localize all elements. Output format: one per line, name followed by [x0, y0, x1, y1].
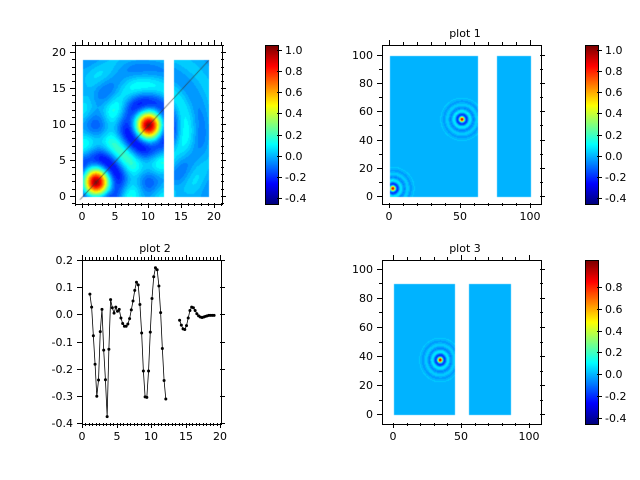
- xtick-major: [151, 423, 152, 428]
- data-point: [159, 311, 162, 314]
- xtick-major: [82, 423, 83, 428]
- colorbar-tick-label: 0.2: [605, 130, 640, 141]
- xtick-minor: [203, 423, 204, 426]
- colorbar-tick-label: 0.4: [605, 326, 640, 337]
- ytick-major-right: [220, 423, 225, 424]
- xtick-minor: [172, 423, 173, 426]
- xtick-label: 100: [510, 211, 550, 222]
- ytick-major-right: [540, 168, 545, 169]
- panel-top-right: plot 1 050100020406080100 -0.4-0.20.00.2…: [320, 0, 640, 240]
- xtick-minor-top: [102, 42, 103, 45]
- ytick-major-right: [540, 414, 545, 415]
- panel-top-left: 0510152005101520 -0.4-0.20.00.20.40.60.8…: [0, 0, 320, 240]
- xtick-minor: [144, 423, 145, 426]
- colorbar-tick: [597, 50, 602, 51]
- xtick-minor: [141, 203, 142, 206]
- ytick-minor: [72, 131, 75, 132]
- xtick-major-top: [460, 40, 461, 45]
- xtick-minor-top: [88, 42, 89, 45]
- xtick-minor: [168, 423, 169, 426]
- ytick-major-right: [540, 83, 545, 84]
- xtick-minor: [182, 423, 183, 426]
- xtick-minor-top: [488, 257, 489, 260]
- xtick-major-top: [151, 255, 152, 260]
- ytick-major: [70, 52, 75, 53]
- ytick-major-right: [220, 314, 225, 315]
- ytick-minor-right: [540, 371, 543, 372]
- colorbar-tick-label: -0.2: [285, 172, 325, 183]
- ytick-major-right: [220, 260, 225, 261]
- xtick-minor: [194, 203, 195, 206]
- ytick-label: 60: [339, 322, 373, 333]
- xtick-major-top: [529, 255, 530, 260]
- ytick-major: [70, 88, 75, 89]
- ytick-minor: [379, 283, 382, 284]
- xtick-minor-top: [120, 257, 121, 260]
- xtick-minor-top: [141, 257, 142, 260]
- xtick-major-top: [148, 40, 149, 45]
- ytick-minor-right: [221, 146, 224, 147]
- xtick-minor-top: [189, 257, 190, 260]
- data-point: [106, 415, 109, 418]
- xtick-minor-top: [108, 42, 109, 45]
- xtick-major: [148, 203, 149, 208]
- ytick-minor-right: [540, 182, 543, 183]
- ytick-label: 0.2: [39, 255, 73, 266]
- ytick-major-right: [221, 160, 226, 161]
- data-point: [128, 317, 131, 320]
- ytick-major-right: [540, 327, 545, 328]
- xtick-minor: [99, 423, 100, 426]
- xtick-minor-top: [203, 257, 204, 260]
- ytick-major-right: [220, 396, 225, 397]
- axes-top-left[interactable]: [75, 45, 223, 205]
- data-point: [109, 298, 112, 301]
- xtick-minor: [188, 203, 189, 206]
- data-point: [133, 289, 136, 292]
- ytick-minor: [379, 371, 382, 372]
- xtick-minor-top: [85, 257, 86, 260]
- xtick-minor-top: [516, 42, 517, 45]
- data-point: [149, 331, 152, 334]
- xtick-minor-top: [474, 42, 475, 45]
- xtick-minor-top: [110, 257, 111, 260]
- colorbar-tick-label: 0.4: [285, 108, 325, 119]
- ytick-major: [77, 423, 82, 424]
- colorbar-tick-label: 0.2: [605, 347, 640, 358]
- ytick-minor: [72, 81, 75, 82]
- xtick-label: 0: [373, 431, 413, 442]
- colorbar-tick: [597, 113, 602, 114]
- xtick-minor-top: [128, 42, 129, 45]
- data-point: [99, 330, 102, 333]
- xtick-major-top: [393, 255, 394, 260]
- ytick-label: 10: [32, 119, 66, 130]
- ytick-major: [377, 327, 382, 328]
- xtick-minor-top: [445, 42, 446, 45]
- colorbar-tick: [597, 331, 602, 332]
- xtick-minor-top: [121, 42, 122, 45]
- xtick-minor: [123, 423, 124, 426]
- xtick-minor: [113, 423, 114, 426]
- xtick-minor: [89, 423, 90, 426]
- line-series-1: [90, 268, 166, 417]
- data-point: [188, 309, 191, 312]
- xtick-minor-top: [99, 257, 100, 260]
- data-point: [100, 308, 103, 311]
- ytick-minor-right: [221, 45, 224, 46]
- xtick-minor: [515, 423, 516, 426]
- xtick-minor: [192, 423, 193, 426]
- ytick-major-right: [221, 124, 226, 125]
- line-series-2: [180, 307, 215, 329]
- ytick-major: [377, 168, 382, 169]
- ytick-minor: [379, 154, 382, 155]
- xtick-minor-top: [407, 257, 408, 260]
- xtick-minor: [217, 423, 218, 426]
- xtick-label: 50: [440, 211, 480, 222]
- xtick-minor-top: [165, 257, 166, 260]
- xtick-minor-top: [141, 42, 142, 45]
- data-point: [119, 317, 122, 320]
- ytick-minor-right: [540, 400, 543, 401]
- data-point: [107, 348, 110, 351]
- xtick-minor: [420, 423, 421, 426]
- ytick-major-right: [220, 369, 225, 370]
- ytick-minor-right: [221, 203, 224, 204]
- colorbar-tick: [597, 287, 602, 288]
- xtick-minor-top: [158, 257, 159, 260]
- ytick-minor-right: [221, 110, 224, 111]
- xtick-minor-top: [194, 42, 195, 45]
- ytick-minor-right: [221, 174, 224, 175]
- ytick-major-right: [540, 196, 545, 197]
- data-point: [130, 308, 133, 311]
- colorbar-tick: [277, 135, 282, 136]
- data-point: [163, 379, 166, 382]
- xtick-major-top: [181, 40, 182, 45]
- xtick-minor-top: [137, 257, 138, 260]
- xtick-minor-top: [213, 257, 214, 260]
- xtick-minor-top: [196, 257, 197, 260]
- ytick-minor: [72, 110, 75, 111]
- xtick-major: [529, 423, 530, 428]
- xtick-minor-top: [106, 257, 107, 260]
- data-point: [161, 347, 164, 350]
- data-point: [151, 297, 154, 300]
- xtick-major: [186, 423, 187, 428]
- xtick-minor-top: [417, 42, 418, 45]
- ytick-label: 0: [32, 191, 66, 202]
- ytick-minor: [72, 174, 75, 175]
- ytick-major: [377, 414, 382, 415]
- colorbar-tick: [277, 113, 282, 114]
- xtick-major: [214, 203, 215, 208]
- xtick-major: [461, 423, 462, 428]
- xtick-minor-top: [434, 257, 435, 260]
- xtick-major: [82, 203, 83, 208]
- ytick-label: 40: [339, 135, 373, 146]
- colorbar-tick-label: 0.6: [605, 87, 640, 98]
- ytick-minor-right: [540, 283, 543, 284]
- colorbar-tick-label: -0.4: [605, 413, 640, 424]
- xtick-minor: [130, 423, 131, 426]
- xtick-minor: [403, 203, 404, 206]
- ytick-minor-right: [540, 154, 543, 155]
- ytick-major: [377, 55, 382, 56]
- ytick-major: [70, 124, 75, 125]
- xtick-minor-top: [161, 257, 162, 260]
- ytick-major-right: [540, 298, 545, 299]
- xtick-minor-top: [96, 257, 97, 260]
- colorbar-tick: [597, 71, 602, 72]
- ytick-minor: [379, 97, 382, 98]
- xtick-major: [117, 423, 118, 428]
- ytick-minor-right: [221, 189, 224, 190]
- xtick-minor: [121, 203, 122, 206]
- ytick-minor-right: [540, 125, 543, 126]
- ytick-major: [77, 369, 82, 370]
- colorbar-tick: [277, 156, 282, 157]
- xtick-major: [530, 203, 531, 208]
- xtick-minor-top: [175, 257, 176, 260]
- xtick-minor: [488, 423, 489, 426]
- colorbar-tick: [277, 92, 282, 93]
- xtick-minor: [474, 203, 475, 206]
- ytick-label: 100: [339, 264, 373, 275]
- data-point: [118, 308, 121, 311]
- xtick-label: 0: [369, 211, 409, 222]
- xtick-minor: [210, 423, 211, 426]
- ytick-minor: [72, 102, 75, 103]
- ytick-major: [77, 396, 82, 397]
- data-point: [94, 363, 97, 366]
- xtick-minor: [158, 423, 159, 426]
- xtick-minor: [168, 203, 169, 206]
- xtick-minor-top: [488, 42, 489, 45]
- xtick-major: [181, 203, 182, 208]
- xtick-minor: [407, 423, 408, 426]
- ytick-minor-right: [221, 81, 224, 82]
- colorbar-tick-label: 0.8: [605, 282, 640, 293]
- data-point: [142, 370, 145, 373]
- ytick-major-right: [540, 356, 545, 357]
- xtick-minor-top: [154, 257, 155, 260]
- xtick-minor-top: [447, 257, 448, 260]
- colorbar-tick-label: -0.4: [605, 193, 640, 204]
- colorbar-tick: [597, 92, 602, 93]
- xtick-minor-top: [403, 42, 404, 45]
- xtick-minor-top: [182, 257, 183, 260]
- colorbar-tick: [277, 71, 282, 72]
- heatmap-bottom-right: [383, 261, 541, 424]
- ytick-minor: [72, 45, 75, 46]
- data-point: [145, 396, 148, 399]
- ytick-major: [77, 287, 82, 288]
- ytick-minor: [72, 181, 75, 182]
- ytick-minor-right: [221, 102, 224, 103]
- axes-bottom-left[interactable]: [82, 260, 222, 425]
- xtick-minor-top: [420, 257, 421, 260]
- xtick-major-top: [186, 255, 187, 260]
- xtick-minor: [155, 203, 156, 206]
- xtick-minor: [141, 423, 142, 426]
- xtick-minor-top: [175, 42, 176, 45]
- xtick-minor: [447, 423, 448, 426]
- xtick-major-top: [461, 255, 462, 260]
- ytick-minor: [72, 167, 75, 168]
- ytick-minor: [72, 146, 75, 147]
- ytick-label: 60: [339, 106, 373, 117]
- data-point: [121, 322, 124, 325]
- data-point: [152, 275, 155, 278]
- ytick-minor-right: [221, 153, 224, 154]
- xtick-minor: [92, 423, 93, 426]
- data-point: [88, 293, 91, 296]
- xtick-minor-top: [127, 257, 128, 260]
- data-point: [180, 324, 183, 327]
- heatmap-top-right: [383, 46, 541, 204]
- xtick-major: [460, 203, 461, 208]
- colorbar-tick: [597, 309, 602, 310]
- colorbar-tick: [597, 198, 602, 199]
- xtick-minor: [502, 203, 503, 206]
- ytick-minor: [379, 312, 382, 313]
- colorbar-gradient-top-left: [266, 46, 278, 204]
- xtick-minor: [85, 423, 86, 426]
- colorbar-tick-label: -0.4: [285, 193, 325, 204]
- xtick-minor: [434, 423, 435, 426]
- data-point: [102, 349, 105, 352]
- heatmap-top-left: [76, 46, 222, 204]
- xtick-minor: [96, 423, 97, 426]
- xtick-minor: [502, 423, 503, 426]
- ytick-label: -0.2: [39, 364, 73, 375]
- ytick-minor-right: [221, 167, 224, 168]
- xtick-minor-top: [168, 42, 169, 45]
- panel-bottom-left: plot 2 05101520-0.4-0.3-0.2-0.10.00.10.2: [0, 240, 320, 480]
- panel-bottom-right: plot 3 050100020406080100 -0.4-0.20.00.2…: [320, 240, 640, 480]
- xtick-major: [115, 203, 116, 208]
- ytick-minor: [72, 138, 75, 139]
- colorbar-tick-label: -0.2: [605, 172, 640, 183]
- ytick-major: [377, 269, 382, 270]
- ytick-label: 20: [32, 47, 66, 58]
- xtick-minor: [103, 423, 104, 426]
- xtick-minor-top: [123, 257, 124, 260]
- xtick-minor: [417, 203, 418, 206]
- line-plot-bottom-left: [83, 261, 221, 424]
- data-point: [178, 319, 181, 322]
- xtick-major: [389, 203, 390, 208]
- ytick-label: 80: [339, 293, 373, 304]
- xtick-minor: [201, 203, 202, 206]
- xtick-label: 50: [441, 431, 481, 442]
- colorbar-top-left: [265, 45, 279, 205]
- data-point: [192, 306, 195, 309]
- data-point: [137, 283, 140, 286]
- ytick-minor-right: [540, 342, 543, 343]
- ytick-major: [70, 196, 75, 197]
- ytick-minor: [379, 400, 382, 401]
- colorbar-tick-label: 0.2: [285, 130, 325, 141]
- xtick-minor: [154, 423, 155, 426]
- xtick-label: 20: [194, 211, 234, 222]
- colorbar-tick-label: 0.8: [605, 66, 640, 77]
- ytick-major-right: [221, 52, 226, 53]
- ytick-minor-right: [221, 131, 224, 132]
- ytick-minor: [72, 203, 75, 204]
- xtick-minor: [179, 423, 180, 426]
- data-point: [187, 317, 190, 320]
- ytick-label: 20: [339, 163, 373, 174]
- xtick-major: [393, 423, 394, 428]
- xtick-minor-top: [144, 257, 145, 260]
- data-point: [157, 284, 160, 287]
- ytick-major: [70, 160, 75, 161]
- ytick-major-right: [540, 269, 545, 270]
- ytick-minor: [72, 153, 75, 154]
- ytick-minor-right: [221, 181, 224, 182]
- ytick-label: 0.1: [39, 282, 73, 293]
- data-point: [92, 334, 95, 337]
- ytick-label: 80: [339, 78, 373, 89]
- data-point: [164, 398, 167, 401]
- xtick-minor: [199, 423, 200, 426]
- ytick-minor: [72, 74, 75, 75]
- xtick-minor-top: [103, 257, 104, 260]
- xtick-minor: [431, 203, 432, 206]
- xtick-minor: [206, 423, 207, 426]
- xtick-minor-top: [208, 42, 209, 45]
- ytick-major: [77, 260, 82, 261]
- ytick-minor: [72, 117, 75, 118]
- xtick-minor-top: [134, 257, 135, 260]
- xtick-minor-top: [92, 257, 93, 260]
- ytick-minor-right: [221, 59, 224, 60]
- ytick-minor: [379, 69, 382, 70]
- ytick-minor-right: [221, 67, 224, 68]
- colorbar-tick-label: 0.6: [605, 304, 640, 315]
- ytick-major-right: [221, 196, 226, 197]
- ytick-major-right: [220, 287, 225, 288]
- colorbar-tick-label: 0.0: [605, 151, 640, 162]
- xtick-minor: [161, 423, 162, 426]
- ytick-label: 0: [339, 191, 373, 202]
- data-point: [90, 306, 93, 309]
- xtick-minor: [175, 203, 176, 206]
- axes-bottom-right[interactable]: [382, 260, 542, 425]
- ytick-major: [377, 196, 382, 197]
- xtick-minor: [213, 423, 214, 426]
- ytick-label: 0.0: [39, 309, 73, 320]
- xtick-minor: [175, 423, 176, 426]
- xtick-minor-top: [475, 257, 476, 260]
- ytick-major: [377, 140, 382, 141]
- xtick-minor: [196, 423, 197, 426]
- ytick-major: [377, 111, 382, 112]
- data-point: [95, 395, 98, 398]
- ytick-minor-right: [540, 312, 543, 313]
- xtick-minor-top: [168, 257, 169, 260]
- data-point: [194, 309, 197, 312]
- colorbar-tick: [597, 418, 602, 419]
- xtick-major-top: [117, 255, 118, 260]
- colorbar-bottom-right: [585, 260, 599, 425]
- xtick-minor-top: [199, 257, 200, 260]
- axes-top-right[interactable]: [382, 45, 542, 205]
- ytick-label: 5: [32, 155, 66, 166]
